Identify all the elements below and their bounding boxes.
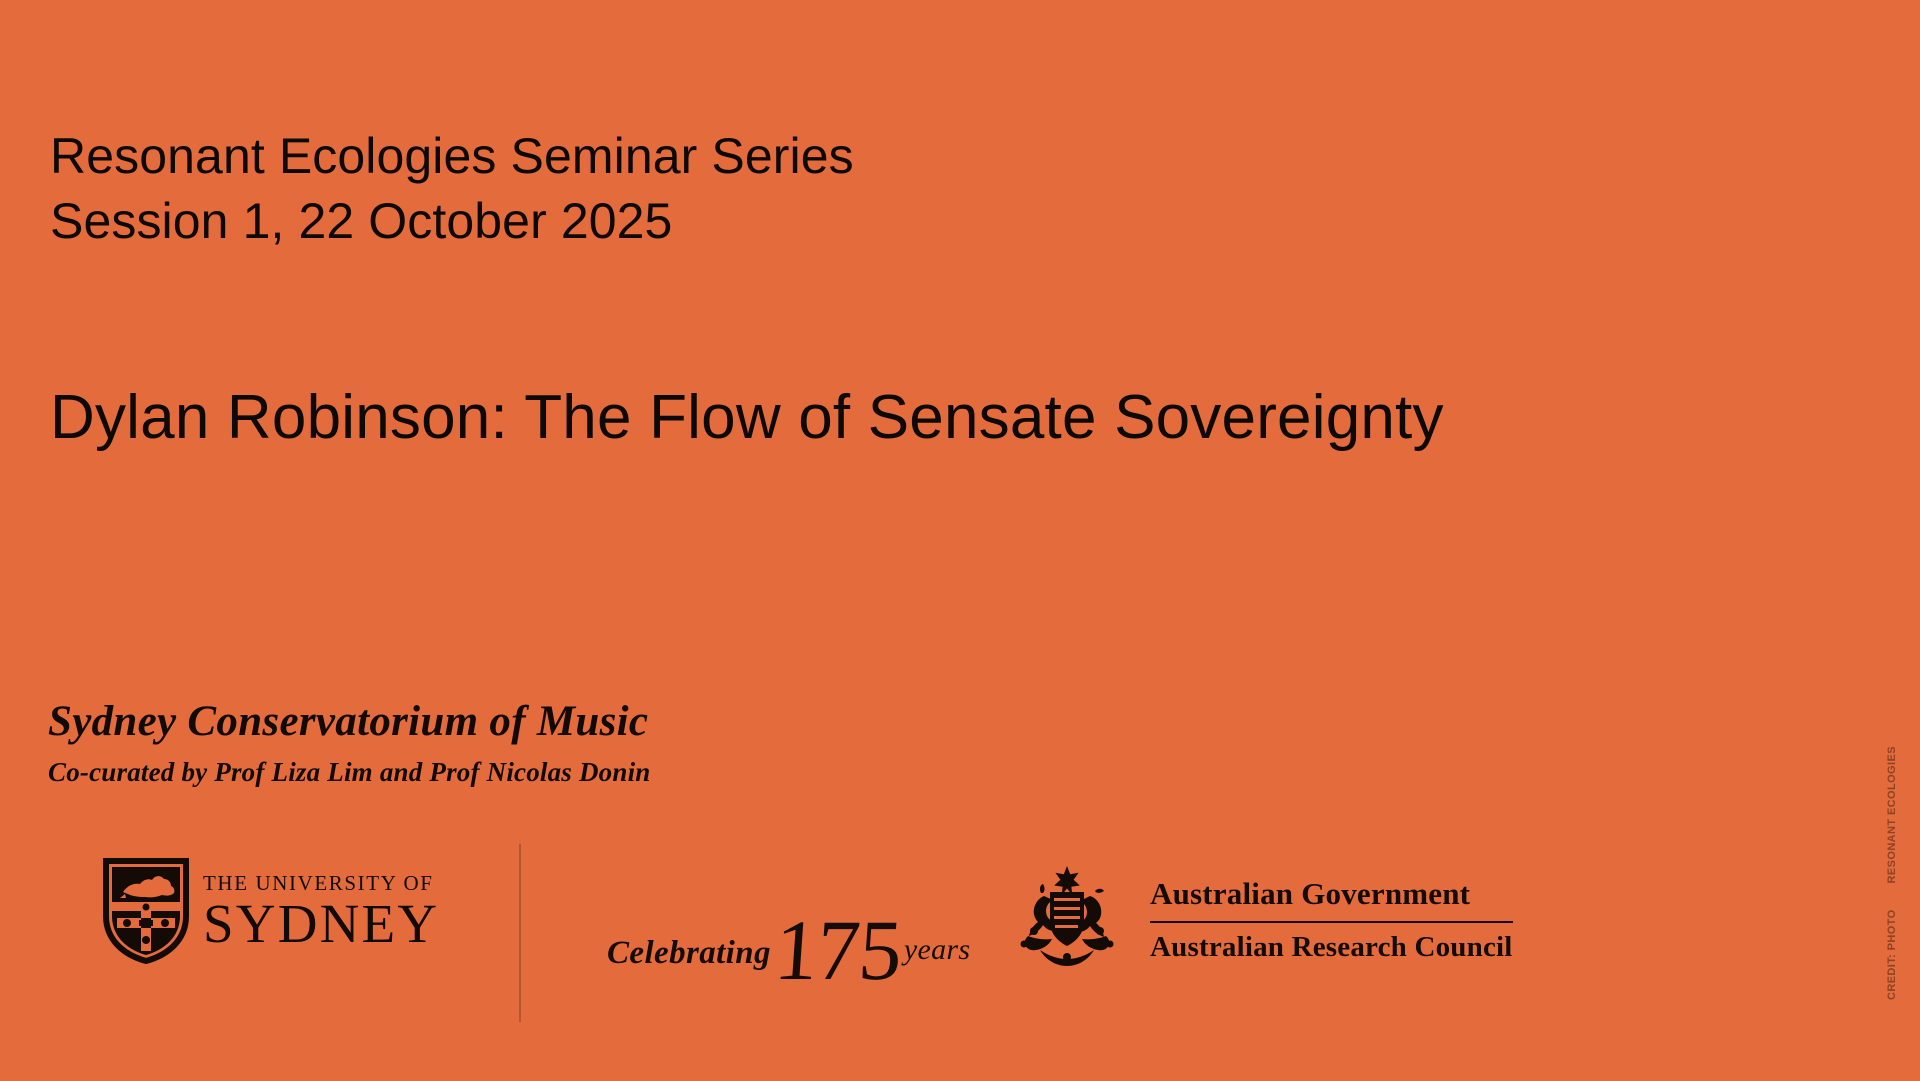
presentation-slide: Resonant Ecologies Seminar Series Sessio… bbox=[0, 0, 1920, 1081]
institution-block: Sydney Conservatorium of Music Co-curate… bbox=[48, 698, 651, 788]
sydney-university-crest-icon bbox=[103, 858, 189, 964]
australian-research-council-logo: Australian Government Australian Researc… bbox=[1000, 860, 1513, 974]
anniversary-number: 175 bbox=[771, 900, 904, 1000]
arc-wordmark: Australian Government Australian Researc… bbox=[1150, 870, 1513, 964]
curators-line: Co-curated by Prof Liza Lim and Prof Nic… bbox=[48, 758, 651, 788]
university-name-line: SYDNEY bbox=[203, 894, 439, 953]
australian-research-council-line: Australian Research Council bbox=[1150, 930, 1513, 964]
university-the-line: THE UNIVERSITY OF bbox=[203, 873, 439, 894]
australian-coat-of-arms-icon bbox=[1000, 860, 1134, 974]
anniversary-years-text: years bbox=[904, 933, 970, 967]
slide-title: Dylan Robinson: The Flow of Sensate Sove… bbox=[50, 382, 1444, 453]
university-wordmark: THE UNIVERSITY OF SYDNEY bbox=[203, 869, 439, 953]
institution-name: Sydney Conservatorium of Music bbox=[48, 698, 651, 745]
arc-rule bbox=[1150, 921, 1513, 923]
seminar-series-line: Resonant Ecologies Seminar Series bbox=[50, 124, 854, 189]
anniversary-celebrating-text: Celebrating bbox=[607, 935, 771, 972]
university-of-sydney-logo: THE UNIVERSITY OF SYDNEY bbox=[103, 858, 439, 964]
logo-divider bbox=[519, 844, 521, 1022]
session-date-line: Session 1, 22 October 2025 bbox=[50, 189, 854, 254]
australian-government-line: Australian Government bbox=[1150, 876, 1513, 913]
anniversary-175-logo: Celebrating 175 years bbox=[607, 886, 970, 986]
slide-header: Resonant Ecologies Seminar Series Sessio… bbox=[50, 124, 854, 253]
logo-strip: THE UNIVERSITY OF SYDNEY Celebrating 175… bbox=[0, 838, 1920, 1028]
